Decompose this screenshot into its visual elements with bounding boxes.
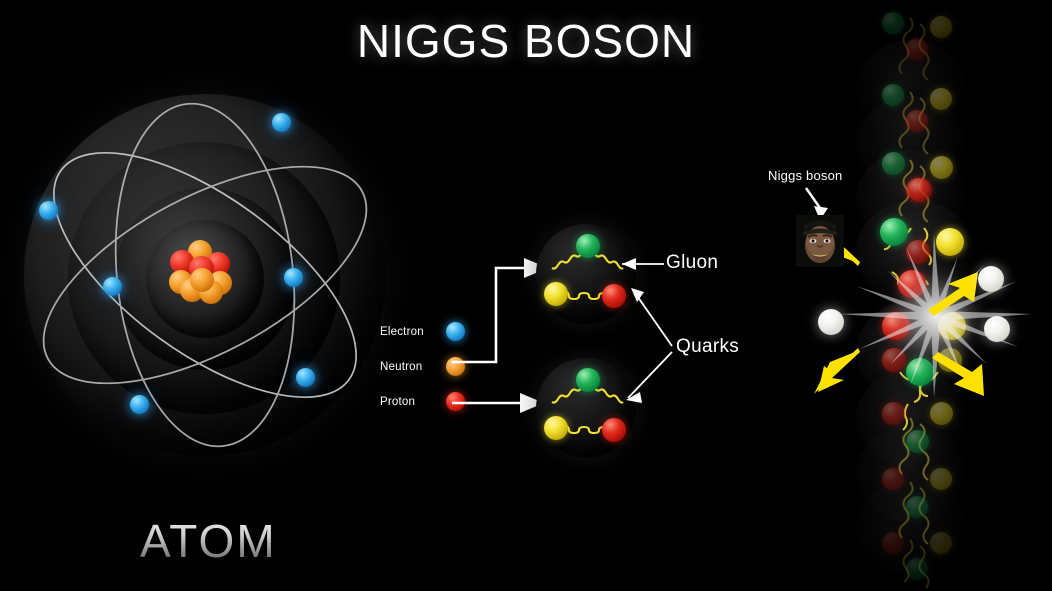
legend-label-proton: Proton xyxy=(380,396,415,408)
quark-green xyxy=(576,234,600,258)
atom-nucleus xyxy=(168,238,242,312)
legend-label-neutron: Neutron xyxy=(380,361,422,373)
electron-particle xyxy=(103,277,122,296)
quark-red xyxy=(602,418,626,442)
niggs-boson-face-photo xyxy=(796,215,844,267)
quark-yellow xyxy=(544,282,568,306)
quarks-callout-label: Quarks xyxy=(676,336,739,358)
electron-particle xyxy=(284,268,303,287)
diagram-canvas: NIGGS BOSON xyxy=(0,0,1052,591)
quark-yellow xyxy=(938,312,966,340)
electron-particle xyxy=(130,395,149,414)
emitted-particle xyxy=(984,316,1010,342)
quark-red xyxy=(882,312,910,340)
atom-label: ATOM xyxy=(140,514,400,568)
electron-particle xyxy=(272,113,291,132)
electron-particle xyxy=(39,201,58,220)
legend-label-electron: Electron xyxy=(380,326,424,338)
emission-arrow-upright-icon xyxy=(924,268,986,316)
gluon-callout-label: Gluon xyxy=(666,252,718,274)
quark-red xyxy=(898,270,926,298)
quark-green xyxy=(576,368,600,392)
electron-particle xyxy=(296,368,315,387)
emitted-particle xyxy=(818,309,844,335)
niggs-boson-label: Niggs boson xyxy=(768,168,842,183)
quark-green xyxy=(880,218,908,246)
quark-yellow xyxy=(544,416,568,440)
atom-illustration: ATOM xyxy=(10,80,400,470)
quark-yellow xyxy=(936,228,964,256)
emission-arrow-downright-icon xyxy=(930,352,992,400)
emitted-particle xyxy=(978,266,1004,292)
emission-arrow-downleft-icon xyxy=(806,348,866,396)
